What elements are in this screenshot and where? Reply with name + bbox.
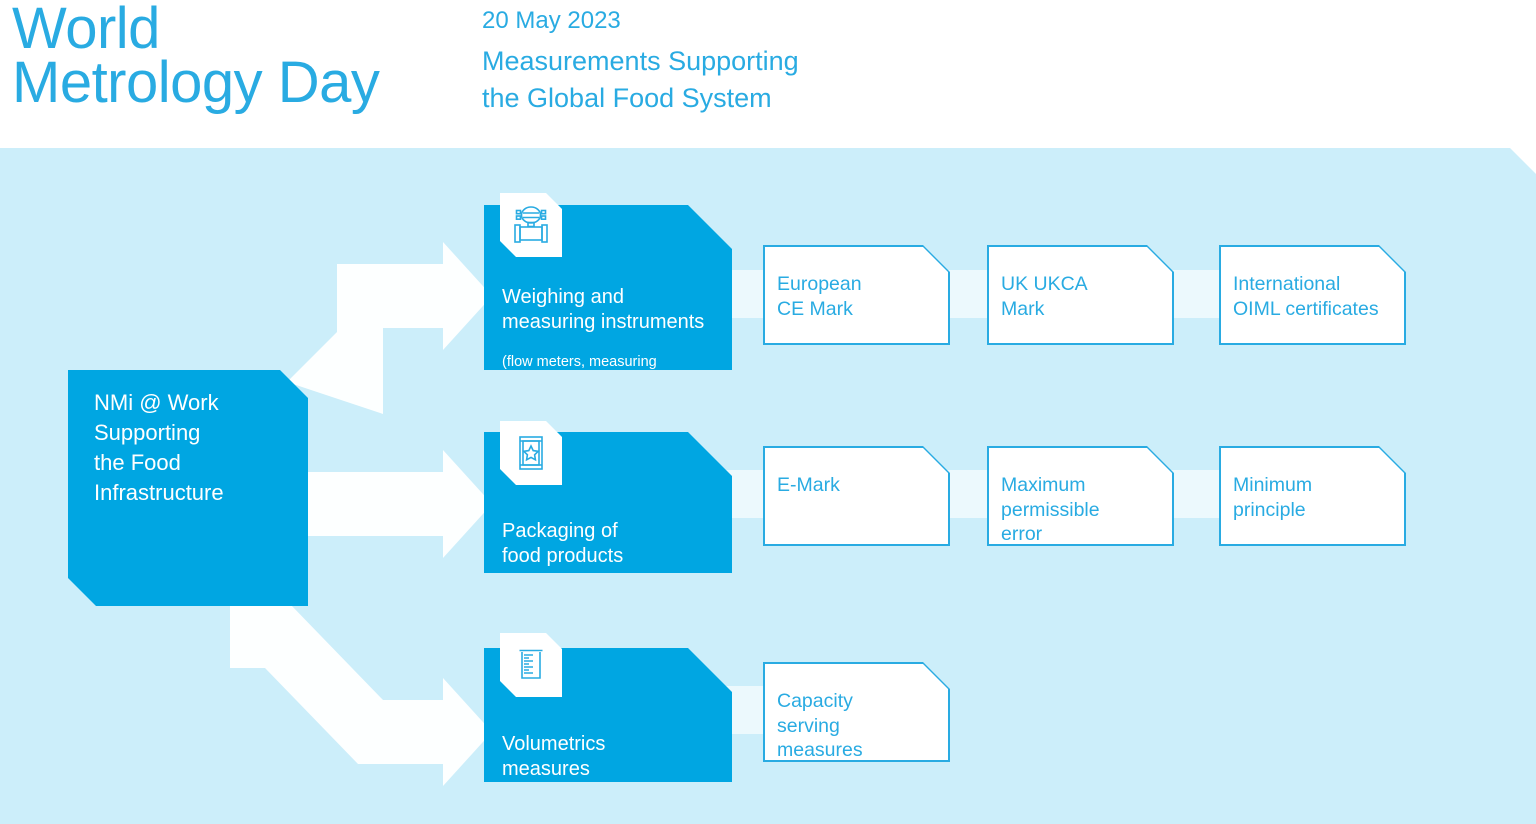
main-node-label: NMi @ Work Supporting the Food Infrastru… <box>94 388 298 508</box>
detail-box-r2-c1[interactable]: E-Mark <box>763 446 950 546</box>
detail-label-r1-c3: International OIML certificates <box>1233 254 1398 357</box>
detail-label-r1-c1: European CE Mark <box>777 254 942 357</box>
detail-label-r2-c1: E-Mark <box>777 455 942 534</box>
detail-box-r1-c1[interactable]: European CE Mark <box>763 245 950 345</box>
main-node[interactable]: NMi @ Work Supporting the Food Infrastru… <box>68 370 308 606</box>
flow-meter-icon <box>500 193 562 257</box>
header: World Metrology Day 20 May 2023 Measurem… <box>0 0 1536 148</box>
event-subtitle: Measurements Supporting the Global Food … <box>482 43 799 117</box>
detail-label-r1-c2: UK UKCA Mark <box>1001 254 1166 357</box>
detail-box-r3-c1[interactable]: Capacity serving measures <box>763 662 950 762</box>
event-date: 20 May 2023 <box>482 7 621 35</box>
detail-box-r1-c3[interactable]: International OIML certificates <box>1219 245 1406 345</box>
page-title: World Metrology Day <box>12 2 379 110</box>
detail-box-r2-c2[interactable]: Maximum permissible error <box>987 446 1174 546</box>
infographic-canvas: World Metrology Day 20 May 2023 Measurem… <box>0 0 1536 824</box>
graduated-cylinder-icon <box>500 633 562 697</box>
detail-box-r2-c3[interactable]: Minimum principle (whole foods ex) <box>1219 446 1406 546</box>
package-star-icon <box>500 421 562 485</box>
detail-box-r1-c2[interactable]: UK UKCA Mark <box>987 245 1174 345</box>
